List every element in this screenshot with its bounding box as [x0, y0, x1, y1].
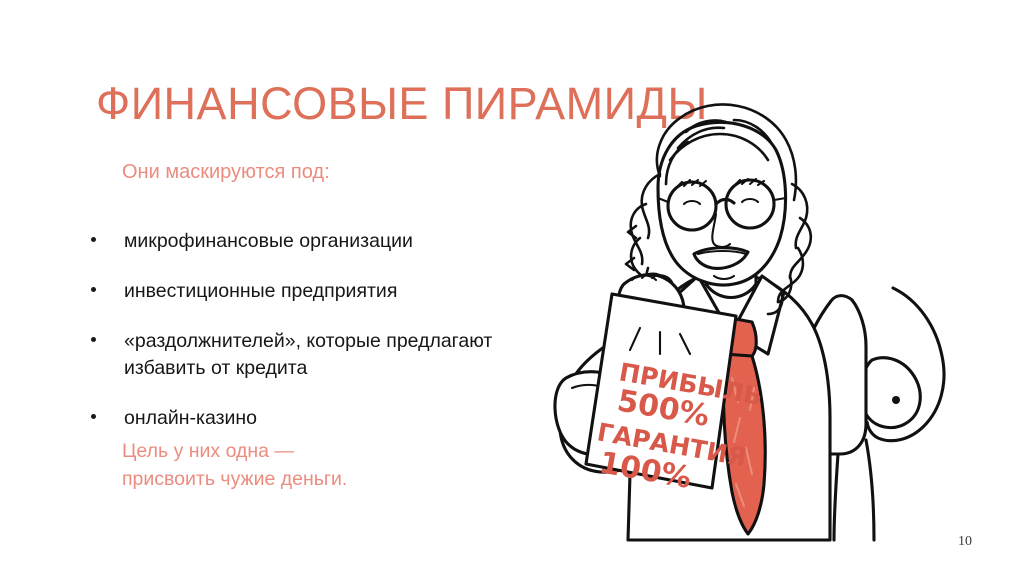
bullet-dot-icon: [91, 337, 96, 342]
list-item-label: онлайн-казино: [124, 405, 516, 432]
closing-note: Цель у них одна — присвоить чужие деньги…: [122, 437, 347, 494]
bullet-dot-icon: [91, 287, 96, 292]
slide-canvas: ФИНАНСОВЫЕ ПИРАМИДЫ Они маскируются под:…: [0, 0, 1024, 574]
list-item: «раздолжнителей», которые предлагают изб…: [86, 328, 516, 382]
bullet-dot-icon: [91, 414, 96, 419]
bullet-list: микрофинансовые организации инвестиционн…: [86, 228, 516, 455]
closing-note-line-1: Цель у них одна —: [122, 437, 347, 465]
bullet-dot-icon: [91, 237, 96, 242]
closing-note-line-2: присвоить чужие деньги.: [122, 465, 347, 493]
list-item: микрофинансовые организации: [86, 228, 516, 255]
list-item-label: микрофинансовые организации: [124, 228, 516, 255]
list-item-label: инвестиционные предприятия: [124, 278, 516, 305]
subtitle-text: Они маскируются под:: [122, 159, 330, 185]
illustration-man-with-sign: ПРИБЫЛЬ 500% ГАРАНТИЯ 100%: [500, 88, 1000, 558]
list-item-label: «раздолжнителей», которые предлагают изб…: [124, 328, 516, 382]
list-item: инвестиционные предприятия: [86, 278, 516, 305]
sleeve-button-icon: [892, 396, 900, 404]
list-item: онлайн-казино: [86, 405, 516, 432]
